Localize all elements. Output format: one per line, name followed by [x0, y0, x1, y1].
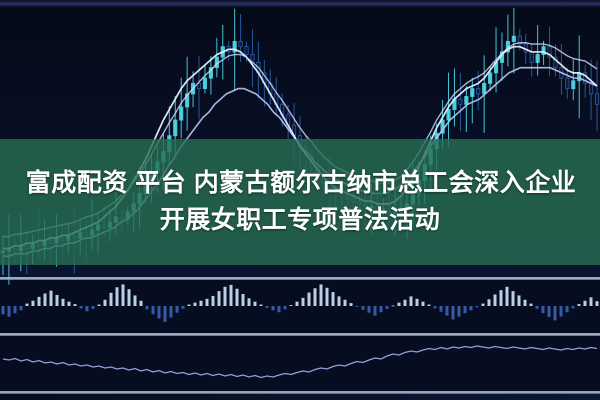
headline-line-2: 开展女职工专项普法活动 [160, 205, 441, 236]
panel-divider-lower [0, 391, 600, 394]
panel-divider-upper [0, 277, 600, 280]
headline-line-1: 富成配资 平台 内蒙古额尔古纳市总工会深入企业 [24, 168, 576, 199]
top-edge-highlight [0, 0, 600, 8]
banner-image: 富成配资 平台 内蒙古额尔古纳市总工会深入企业 开展女职工专项普法活动 [0, 0, 600, 400]
headline-block: 富成配资 平台 内蒙古额尔古纳市总工会深入企业 开展女职工专项普法活动 [0, 139, 600, 265]
panel-divider-middle [0, 333, 600, 336]
